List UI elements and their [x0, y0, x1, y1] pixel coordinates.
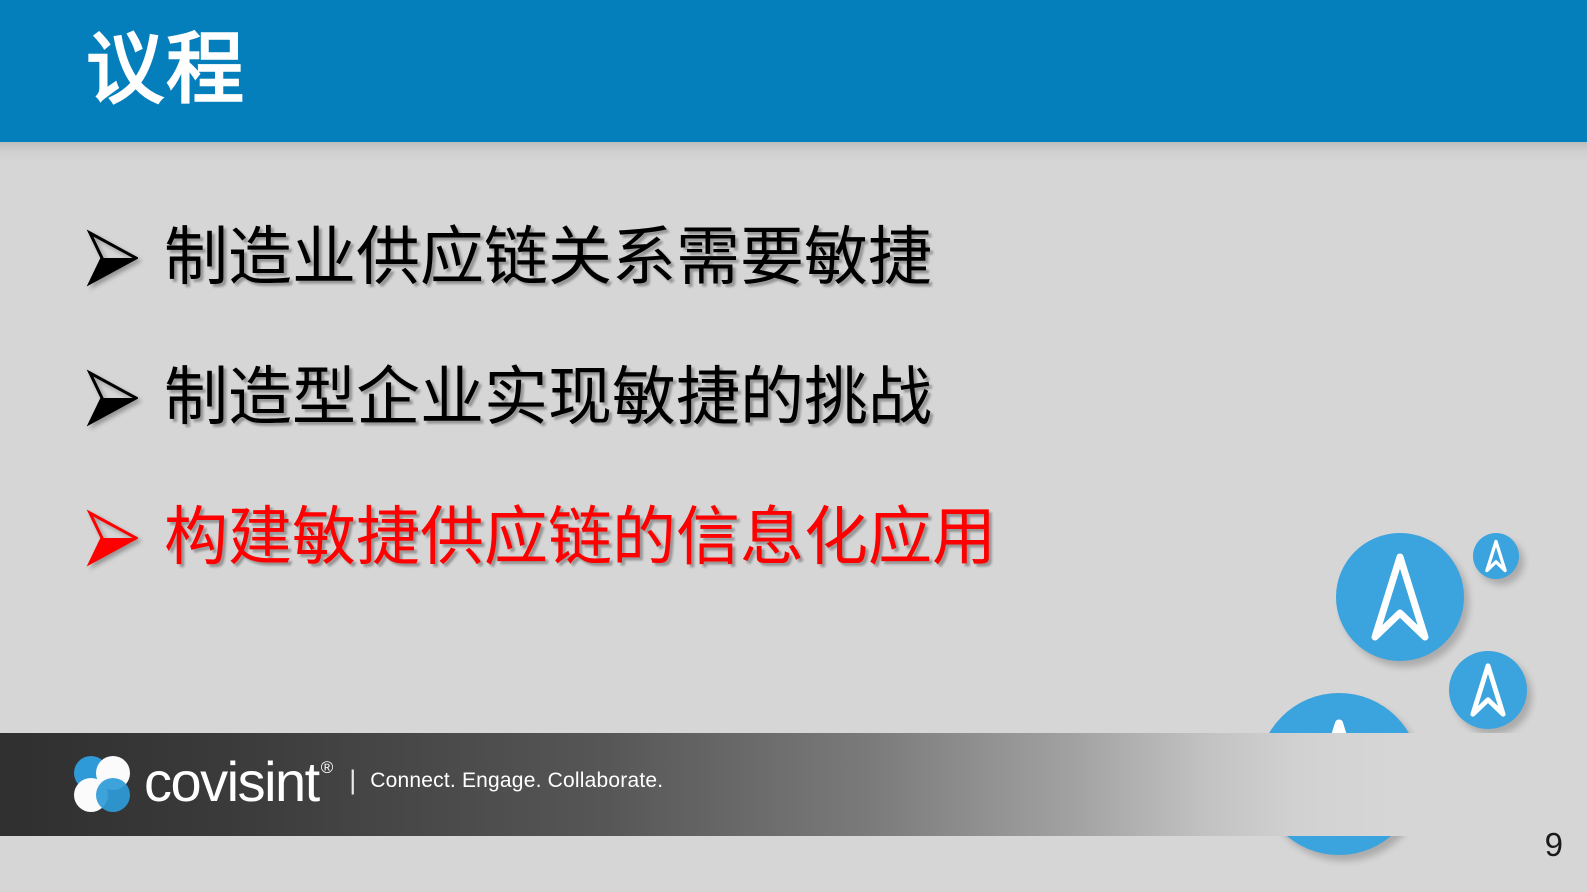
- arrowhead-bullet-icon: [86, 369, 164, 427]
- brand-wordmark: covisint: [144, 754, 319, 810]
- list-item: 构建敏捷供应链的信息化应用: [86, 468, 1246, 608]
- list-item-label: 构建敏捷供应链的信息化应用: [164, 504, 996, 571]
- registered-trademark-icon: ®: [321, 758, 334, 778]
- slide-agenda: 议程 制造业供应链关系需要敏捷 制造型企业实现敏捷的挑战: [0, 0, 1587, 892]
- list-item: 制造型企业实现敏捷的挑战: [86, 328, 1246, 468]
- navigation-arrow-icon: [1484, 539, 1508, 573]
- navigation-arrow-circle-small: [1473, 533, 1519, 579]
- arrowhead-bullet-icon: [86, 509, 164, 567]
- footer-brand-block: covisint ® | Connect. Engage. Collaborat…: [74, 744, 663, 824]
- arrowhead-bullet-icon: [86, 229, 164, 287]
- header-drop-shadow: [0, 142, 1587, 162]
- navigation-arrow-circle-large-upper: [1336, 533, 1464, 661]
- list-item-label: 制造型企业实现敏捷的挑战: [164, 364, 932, 431]
- navigation-arrow-icon: [1367, 551, 1433, 643]
- four-circles-icon: [74, 756, 130, 812]
- navigation-arrow-circle-medium: [1449, 651, 1527, 729]
- page-title: 议程: [86, 30, 246, 108]
- agenda-bullet-list: 制造业供应链关系需要敏捷 制造型企业实现敏捷的挑战 构建敏捷供应链的信息化应用: [86, 188, 1246, 608]
- list-item-label: 制造业供应链关系需要敏捷: [164, 224, 932, 291]
- brand-divider: |: [349, 765, 356, 796]
- brand-tagline: Connect. Engage. Collaborate.: [370, 769, 663, 793]
- list-item: 制造业供应链关系需要敏捷: [86, 188, 1246, 328]
- page-number: 9: [1545, 826, 1563, 864]
- navigation-arrow-icon: [1468, 662, 1508, 718]
